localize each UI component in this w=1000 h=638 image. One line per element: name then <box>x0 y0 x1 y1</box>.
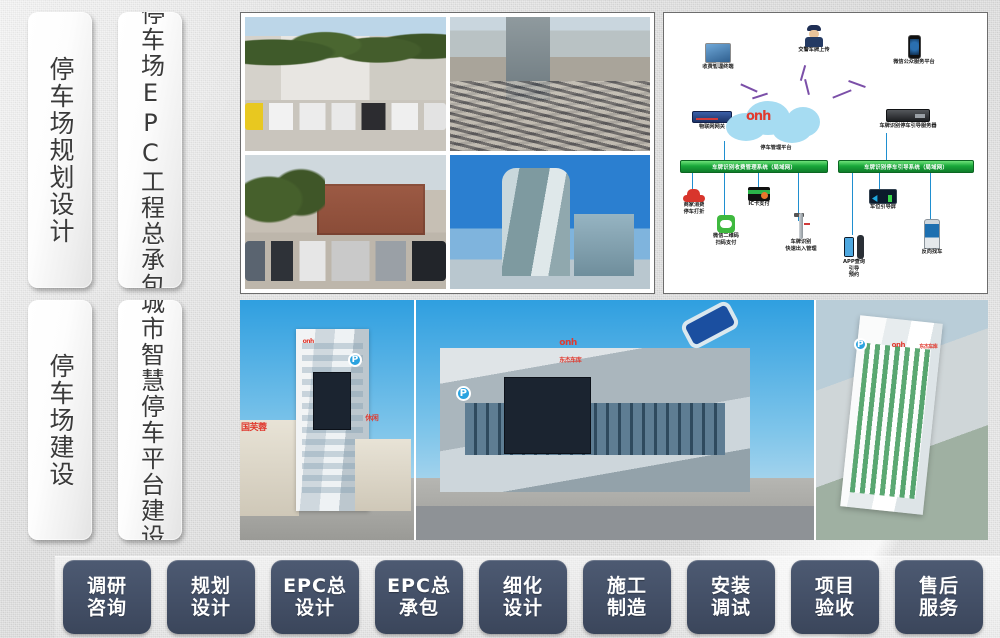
adjacent-lowrise-building <box>240 420 299 516</box>
process-step-project-acceptance[interactable]: 项目 验收 <box>791 560 879 634</box>
system-architecture-diagram-panel: 收费管理终端 交警车牌上传 微信公众服务平台 物联网网关 车牌识别停车引导服务器 <box>663 12 988 294</box>
diagram-canvas: 收费管理终端 交警车牌上传 微信公众服务平台 物联网网关 车牌识别停车引导服务器 <box>664 13 987 293</box>
diagram-connector <box>692 173 693 189</box>
diagram-node-label: 反向找车 <box>912 249 952 256</box>
facade-billboard <box>313 372 351 430</box>
barrier-gate-icon <box>792 213 810 239</box>
diagram-green-bar-label: 车牌识别停车引导系统（局域网） <box>864 163 948 171</box>
diagram-node-label: 商家消费 停车打折 <box>672 202 716 215</box>
garage-building <box>440 348 750 492</box>
cloud-platform-icon: onh <box>726 99 822 143</box>
process-step-installation-commissioning[interactable]: 安装 调试 <box>687 560 775 634</box>
diagram-connector <box>930 173 931 219</box>
red-car-icon <box>683 189 705 202</box>
sidebar-card-label: 停车场建设 <box>46 353 74 488</box>
photo-aerial-view-city-parking <box>450 17 651 151</box>
guidance-screen-icon <box>869 189 897 204</box>
process-step-detailed-design[interactable]: 细化 设计 <box>479 560 567 634</box>
diagram-connector <box>724 141 725 161</box>
parking-p-badge: P <box>348 353 362 367</box>
diagram-node-lpr-parking-guidance-server: 车牌识别停车引导服务器 <box>860 109 956 130</box>
render-strip: 国芙蓉 onh P 休闲 onh 东杰车库 P <box>240 300 988 540</box>
diagram-green-bar-guidance-system: 车牌识别停车引导系统（局域网） <box>838 160 974 173</box>
photo-glass-office-tower <box>450 155 651 289</box>
app-query-icon <box>844 235 864 259</box>
diagram-connector <box>724 173 725 215</box>
diagram-node-charging-management-terminal: 收费管理终端 <box>686 43 750 71</box>
diagram-green-bar-charging-system: 车牌识别收费管理系统（局域网） <box>680 160 828 173</box>
sidebar-card-parking-epc-general-contracting[interactable]: 停车场EPC工程总承包 <box>118 12 182 288</box>
sidebar-card-label: 停车场规划设计 <box>46 56 74 245</box>
diagram-node-label: APP查询 引导 预约 <box>834 259 874 279</box>
diagram-connector <box>879 173 880 189</box>
sidebar-card-label: 城市智慧停车平台建设 <box>137 300 164 540</box>
diagram-node-reverse-car-finding: 反向找车 <box>912 219 952 256</box>
sidebar-card-parking-construction[interactable]: 停车场建设 <box>28 300 92 540</box>
server-icon <box>886 109 930 122</box>
smartphone-icon <box>908 35 921 59</box>
process-step-research-consulting[interactable]: 调研 咨询 <box>63 560 151 634</box>
building-brand-name-cn: 东杰车库 <box>559 355 581 364</box>
photo-street-parking-lot-with-trees <box>245 17 446 151</box>
building-brand-logo: onh <box>303 338 314 345</box>
diagram-node-wechat-qr-payment: 微信二维码 扫码支付 <box>702 215 750 246</box>
sidebar-card-smart-city-parking-platform[interactable]: 城市智慧停车平台建设 <box>118 300 182 540</box>
diagram-node-label: 微信公众服务平台 <box>874 59 954 66</box>
process-step-after-sales-service[interactable]: 售后 服务 <box>895 560 983 634</box>
photo-collage-grid <box>245 17 650 289</box>
parked-cars-row <box>245 103 446 130</box>
process-step-epc-general-contracting[interactable]: EPC总 承包 <box>375 560 463 634</box>
diagram-node-merchant-parking-discount: 商家消费 停车打折 <box>672 189 716 215</box>
photo-parking-lot-brick-building <box>245 155 446 289</box>
diagram-node-lpr-fast-entry-exit: 车牌识别 快速出入管理 <box>776 213 826 252</box>
wechat-icon <box>717 215 735 233</box>
photo-collage-panel <box>240 12 655 294</box>
street-sign-right: 休闲 <box>365 413 378 423</box>
cloud-platform-label: 停车管理平台 <box>736 145 816 152</box>
parked-cars-row <box>245 241 446 281</box>
road-surface <box>416 506 814 540</box>
architectural-render-row: 国芙蓉 onh P 休闲 onh 东杰车库 P <box>240 300 988 540</box>
adjacent-lowrise-building <box>355 439 411 511</box>
brand-logo: onh <box>746 109 770 124</box>
diagram-node-ic-card-payment: IC卡支付 <box>738 187 780 208</box>
diagram-node-wechat-public-service-platform: 微信公众服务平台 <box>874 35 954 66</box>
sidebar-card-label: 停车场EPC工程总承包 <box>137 12 164 288</box>
render-mechanical-garage: onh 东杰车库 P <box>416 300 814 540</box>
process-step-epc-general-design[interactable]: EPC总 设计 <box>271 560 359 634</box>
diagram-node-traffic-police-upload: 交警车牌上传 <box>782 25 846 54</box>
building-brand-name-cn: 东杰车库 <box>919 343 937 350</box>
diagram-node-label: 车牌识别停车引导服务器 <box>860 123 956 130</box>
diagram-node-label: 微信二维码 扫码支付 <box>702 233 750 246</box>
street-sign-left: 国芙蓉 <box>241 420 267 433</box>
diagram-connector <box>886 133 887 161</box>
connector-bolt <box>804 79 810 95</box>
process-step-planning-design[interactable]: 规划 设计 <box>167 560 255 634</box>
render-parking-tower-aerial: P onh 东杰车库 <box>816 300 988 540</box>
facade-led-billboard <box>504 377 592 454</box>
sidebar-card-parking-planning-design[interactable]: 停车场规划设计 <box>28 12 92 288</box>
diagram-node-app-query-guidance-booking: APP查询 引导 预约 <box>834 235 874 279</box>
diagram-connector <box>758 173 759 187</box>
process-step-construction-manufacturing[interactable]: 施工 制造 <box>583 560 671 634</box>
diagram-connector <box>852 173 853 235</box>
diagram-node-label: 车位引导屏 <box>862 204 904 211</box>
monitor-icon <box>705 43 731 63</box>
diagram-node-parking-guidance-screen: 车位引导屏 <box>862 189 904 211</box>
render-parking-tower-street: 国芙蓉 onh P 休闲 <box>240 300 414 540</box>
building-brand-logo: onh <box>892 341 905 349</box>
find-car-kiosk-icon <box>924 219 940 249</box>
diagram-node-label: IC卡支付 <box>738 201 780 208</box>
connector-bolt <box>832 89 851 98</box>
diagram-node-label: 车牌识别 快速出入管理 <box>776 239 826 252</box>
connector-bolt <box>848 80 866 88</box>
building-brand-logo: onh <box>559 338 577 348</box>
diagram-green-bar-label: 车牌识别收费管理系统（局域网） <box>712 163 796 171</box>
facade-green-strips <box>850 343 931 499</box>
process-bar: 调研 咨询 规划 设计 EPC总 设计 EPC总 承包 细化 设计 施工 制造 … <box>63 560 993 634</box>
ic-card-icon <box>748 187 770 201</box>
connector-bolt <box>740 83 757 92</box>
diagram-node-label: 交警车牌上传 <box>782 47 846 54</box>
traffic-police-icon <box>805 25 823 47</box>
